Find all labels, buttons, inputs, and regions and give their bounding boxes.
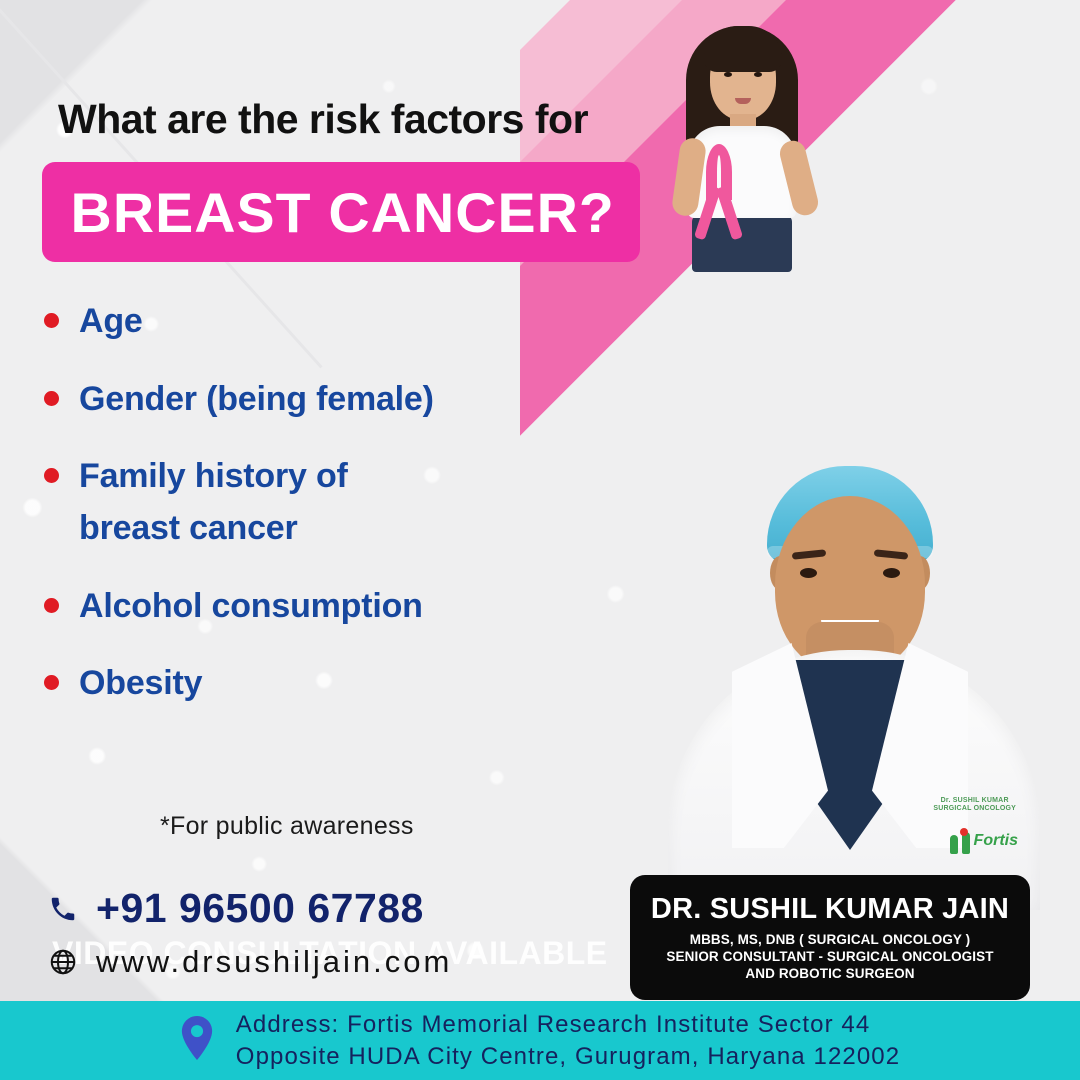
doctor-credentials: MBBS, MS, DNB ( SURGICAL ONCOLOGY ) SENI…: [666, 931, 993, 983]
list-item: Family history of breast cancer: [44, 451, 584, 554]
list-item-label: Obesity: [79, 658, 202, 710]
fortis-logo-mark: [950, 828, 970, 854]
fortis-logo: Fortis: [950, 828, 1018, 854]
phone-number: +91 96500 67788: [96, 885, 424, 932]
list-item-label: Family history of breast cancer: [79, 451, 348, 554]
contact-block: +91 96500 67788 www.drsushiljain.com: [42, 885, 452, 992]
doctor-photo: Dr. SUSHIL KUMAR SURGICAL ONCOLOGY Forti…: [640, 440, 1060, 910]
doctor-eye-left: [800, 568, 817, 578]
bullet-dot-icon: [44, 313, 59, 328]
list-item: Alcohol consumption: [44, 581, 584, 633]
list-item: Age: [44, 296, 584, 348]
woman-with-ribbon-photo: [658, 14, 828, 272]
poster-canvas: What are the risk factors for BREAST CAN…: [0, 0, 1080, 1080]
bullet-dot-icon: [44, 598, 59, 613]
fortis-logo-text: Fortis: [974, 832, 1018, 850]
list-item-label: Alcohol consumption: [79, 581, 423, 633]
address-text: Address: Fortis Memorial Research Instit…: [236, 1009, 900, 1073]
eye-right: [754, 72, 762, 77]
phone-row[interactable]: +91 96500 67788: [42, 885, 452, 932]
public-awareness-note: *For public awareness: [160, 812, 414, 841]
website-url: www.drsushiljain.com: [96, 944, 452, 980]
coat-embroidered-name: Dr. SUSHIL KUMAR SURGICAL ONCOLOGY: [933, 797, 1016, 815]
bullet-dot-icon: [44, 675, 59, 690]
doctor-name: DR. SUSHIL KUMAR JAIN: [651, 893, 1009, 926]
website-row[interactable]: www.drsushiljain.com: [42, 944, 452, 980]
list-item: Obesity: [44, 658, 584, 710]
globe-icon: [42, 947, 84, 977]
doctor-nameplate: DR. SUSHIL KUMAR JAIN MBBS, MS, DNB ( SU…: [630, 875, 1030, 1000]
list-item-label: Age: [79, 296, 143, 348]
address-line-2: Opposite HUDA City Centre, Gurugram, Har…: [236, 1041, 900, 1073]
address-line-1: Address: Fortis Memorial Research Instit…: [236, 1009, 900, 1041]
list-item-label: Gender (being female): [79, 374, 434, 426]
headline-banner-text: BREAST CANCER?: [42, 180, 615, 245]
doctor-eye-right: [883, 568, 900, 578]
list-item: Gender (being female): [44, 374, 584, 426]
phone-icon: [42, 894, 84, 924]
page-title: What are the risk factors for: [58, 96, 588, 143]
address-bar: Address: Fortis Memorial Research Instit…: [0, 1001, 1080, 1080]
eye-left: [724, 72, 732, 77]
headline-banner: BREAST CANCER?: [42, 162, 640, 262]
location-pin-icon: [180, 1016, 214, 1065]
bullet-dot-icon: [44, 468, 59, 483]
risk-factors-list: Age Gender (being female) Family history…: [44, 296, 584, 736]
pink-ribbon-icon: [692, 144, 748, 236]
bullet-dot-icon: [44, 391, 59, 406]
